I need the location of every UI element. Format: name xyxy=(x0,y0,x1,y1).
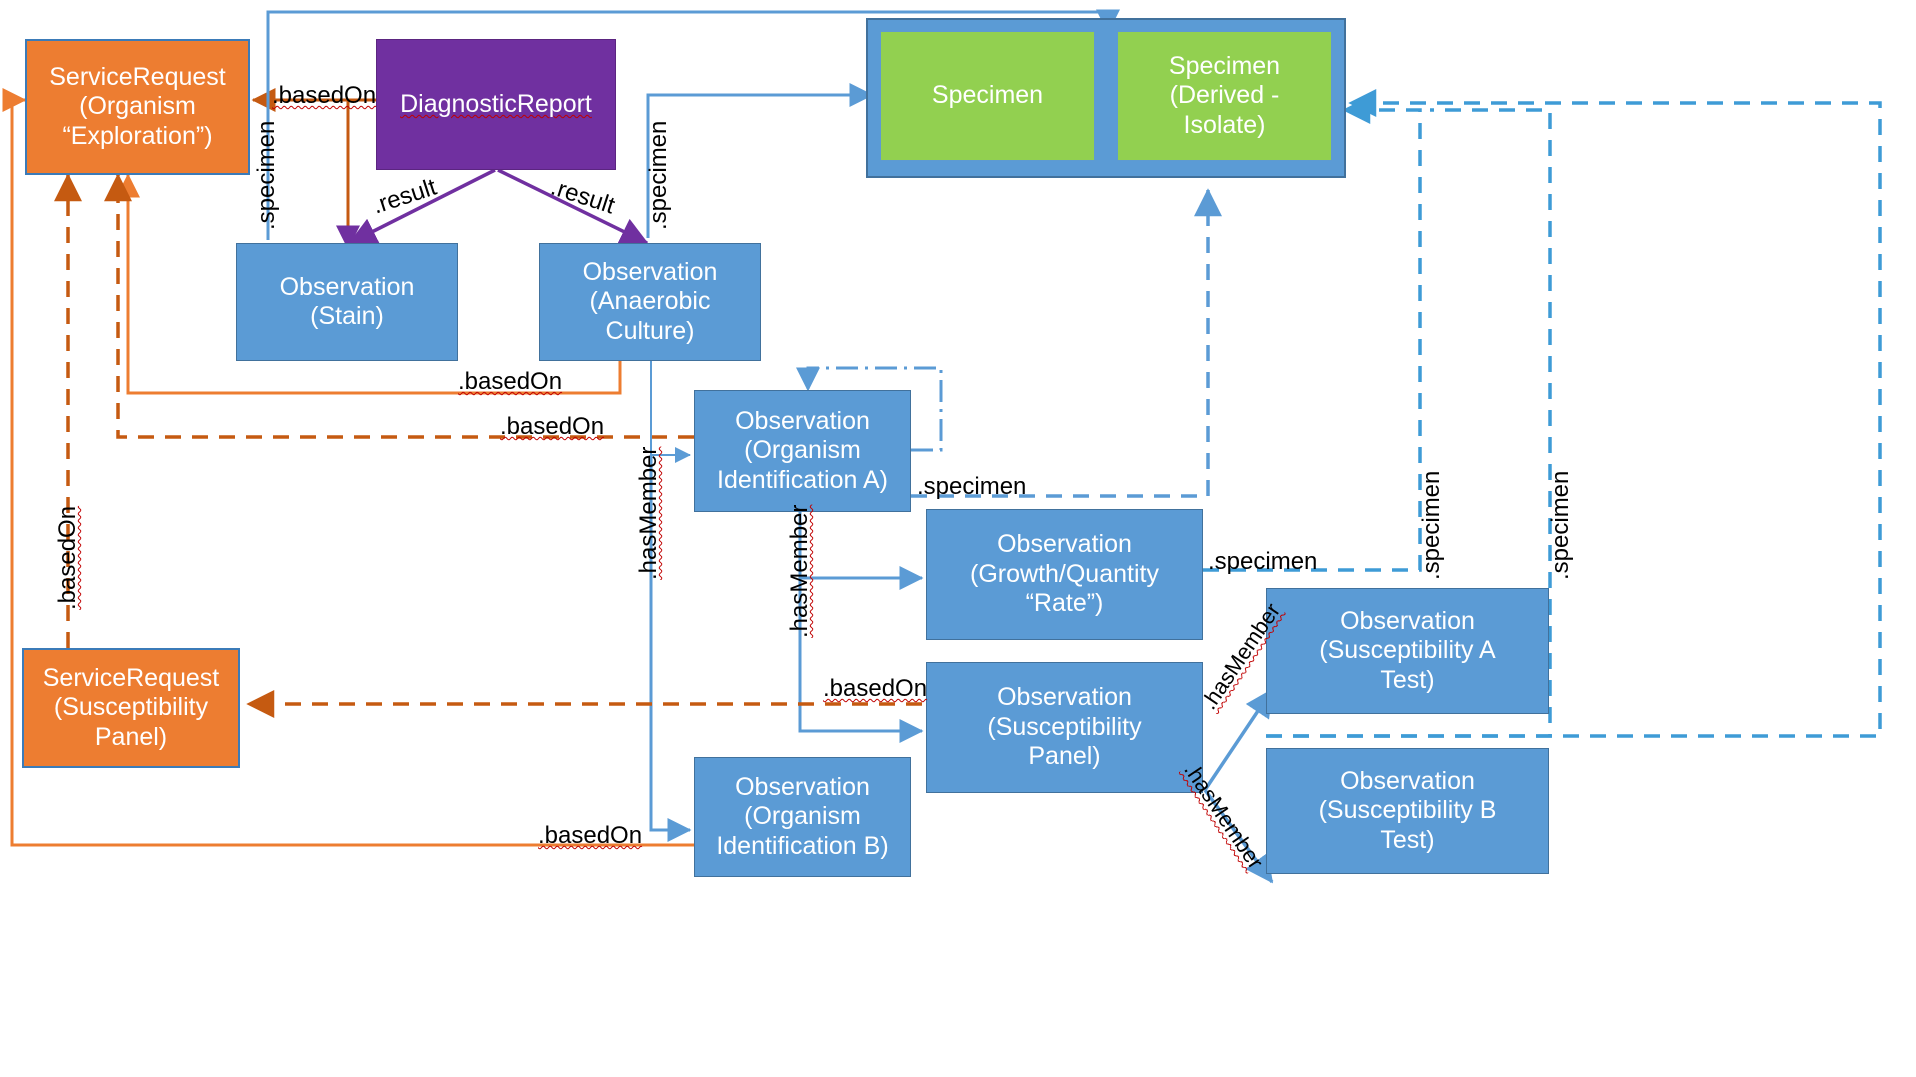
obs-susc-panel-line3: Panel) xyxy=(1028,742,1100,772)
obs-orgid-b-line1: Observation xyxy=(735,773,870,803)
obs-growth-line1: Observation xyxy=(997,530,1132,560)
label-specimen-susc-b-vertical: .specimen xyxy=(1547,471,1575,580)
diagnosticreport-label: DiagnosticReport xyxy=(400,90,592,120)
obs-susc-panel-line1: Observation xyxy=(997,683,1132,713)
node-servicerequest-susceptibility-panel[interactable]: ServiceRequest (Susceptibility Panel) xyxy=(22,648,240,768)
obs-orgid-b-line3: Identification B) xyxy=(716,832,888,862)
sr-organism-line3: “Exploration”) xyxy=(62,122,212,152)
node-diagnosticreport[interactable]: DiagnosticReport xyxy=(376,39,616,170)
obs-stain-line1: Observation xyxy=(280,273,415,303)
obs-susc-a-line2: (Susceptibility A xyxy=(1319,636,1495,666)
sr-organism-line1: ServiceRequest xyxy=(49,63,225,93)
edge-growth-specimen-to-derived xyxy=(1203,110,1420,570)
edge-orgid-a-hasmember-growth xyxy=(800,512,922,578)
edge-anaerobic-hasmember-orgid-a xyxy=(651,360,690,455)
sr-susc-line2: (Susceptibility xyxy=(54,693,208,723)
obs-susc-panel-line2: (Susceptibility xyxy=(987,713,1141,743)
label-hasmember-orgid-a-to-growth: .hasMember xyxy=(786,505,814,638)
label-specimen-susc-a-vertical: .specimen xyxy=(1418,471,1446,580)
label-basedon-dr-to-sr: .basedOn xyxy=(272,82,376,110)
obs-growth-line2: (Growth/Quantity xyxy=(970,560,1159,590)
sr-organism-line2: (Organism xyxy=(79,92,196,122)
label-basedon-orgid-b: .basedOn xyxy=(538,822,642,850)
obs-anaerobic-line2: (Anaerobic xyxy=(590,287,711,317)
obs-susc-b-line2: (Susceptibility B xyxy=(1319,796,1497,826)
obs-orgid-a-line2: (Organism xyxy=(744,436,861,466)
edge-orgid-a-hasmember-susc-panel xyxy=(800,578,922,731)
label-basedon-susc-panel: .basedOn xyxy=(823,675,927,703)
label-specimen-stain-vertical: .specimen xyxy=(253,121,281,230)
node-observation-anaerobic-culture[interactable]: Observation (Anaerobic Culture) xyxy=(539,243,761,361)
node-observation-susceptibility-b-test[interactable]: Observation (Susceptibility B Test) xyxy=(1266,748,1549,874)
node-observation-stain[interactable]: Observation (Stain) xyxy=(236,243,458,361)
label-specimen-anaerobic-vertical: .specimen xyxy=(645,121,673,230)
node-observation-susceptibility-a-test[interactable]: Observation (Susceptibility A Test) xyxy=(1266,588,1549,714)
node-specimen-derived-line1: Specimen xyxy=(1169,52,1280,82)
obs-anaerobic-line1: Observation xyxy=(583,258,718,288)
obs-susc-b-line3: Test) xyxy=(1380,826,1434,856)
obs-orgid-b-line2: (Organism xyxy=(744,802,861,832)
obs-susc-a-line3: Test) xyxy=(1380,666,1434,696)
label-specimen-growth: .specimen xyxy=(1208,548,1317,576)
edge-orgid-a-specimen-to-derived xyxy=(911,190,1208,496)
obs-orgid-a-line1: Observation xyxy=(735,407,870,437)
label-specimen-orgid-a: .specimen xyxy=(917,473,1026,501)
label-basedon-orgid-a: .basedOn xyxy=(500,413,604,441)
obs-growth-line3: “Rate”) xyxy=(1026,589,1104,619)
obs-anaerobic-line3: Culture) xyxy=(606,317,695,347)
node-specimen[interactable]: Specimen xyxy=(880,31,1095,161)
node-observation-organism-identification-b[interactable]: Observation (Organism Identification B) xyxy=(694,757,911,877)
label-hasmember-anaerobic-to-orgid: .hasMember xyxy=(635,447,663,580)
label-basedon-sr-susc-vertical: .basedOn xyxy=(54,506,82,610)
node-specimen-derived-isolate[interactable]: Specimen (Derived - Isolate) xyxy=(1117,31,1332,161)
obs-stain-line2: (Stain) xyxy=(310,302,384,332)
diagram-canvas: Specimen Specimen (Derived - Isolate) Se… xyxy=(0,0,1916,1077)
node-observation-growth-quantity-rate[interactable]: Observation (Growth/Quantity “Rate”) xyxy=(926,509,1203,640)
edge-anaerobic-specimen-to-specimen xyxy=(648,95,872,238)
obs-susc-b-line1: Observation xyxy=(1340,767,1475,797)
node-observation-organism-identification-a[interactable]: Observation (Organism Identification A) xyxy=(694,390,911,512)
sr-susc-line1: ServiceRequest xyxy=(43,664,219,694)
obs-orgid-a-line3: Identification A) xyxy=(717,466,888,496)
node-servicerequest-organism-exploration[interactable]: ServiceRequest (Organism “Exploration”) xyxy=(25,39,250,175)
node-specimen-derived-line2: (Derived - Isolate) xyxy=(1126,81,1323,140)
obs-susc-a-line1: Observation xyxy=(1340,607,1475,637)
node-specimen-label: Specimen xyxy=(932,81,1043,111)
sr-susc-line3: Panel) xyxy=(95,723,167,753)
label-basedon-anaerobic: .basedOn xyxy=(458,368,562,396)
node-observation-susceptibility-panel[interactable]: Observation (Susceptibility Panel) xyxy=(926,662,1203,793)
